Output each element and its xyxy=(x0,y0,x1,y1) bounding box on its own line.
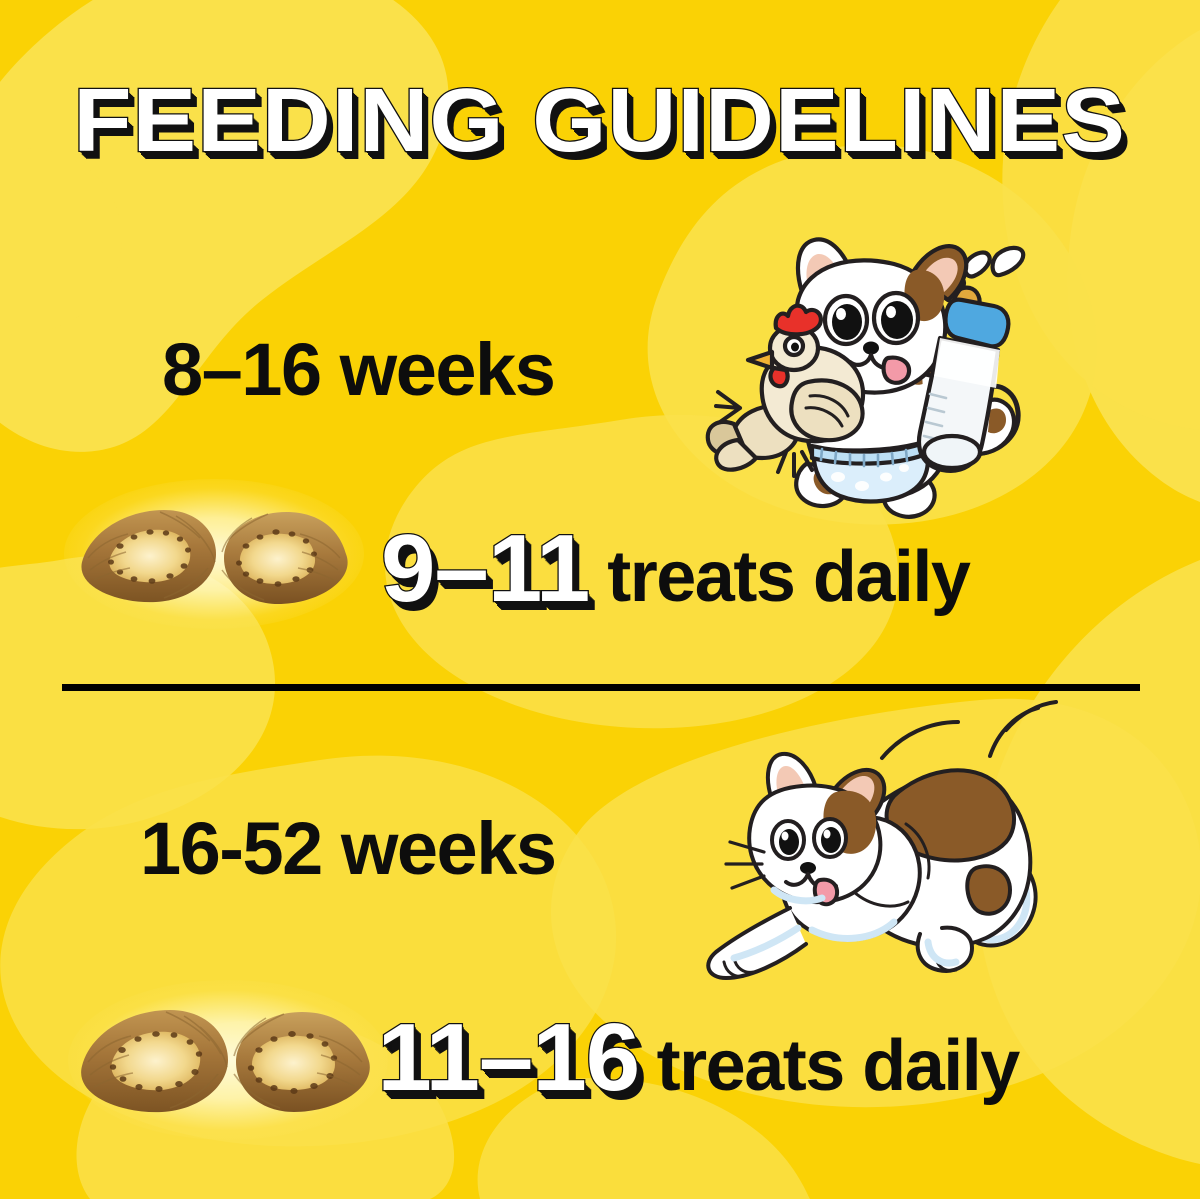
feeding-guidelines-poster: FEEDING GUIDELINES xyxy=(0,0,1200,1199)
playful-adult-cat-icon xyxy=(690,700,1065,985)
treat-unit-2: treats daily xyxy=(657,1030,1019,1102)
age-range-label-1: 8–16 weeks xyxy=(162,333,554,407)
kitten-with-chicken-and-milk-bottle-icon xyxy=(690,196,1040,526)
treat-count-line-1: 9–11 treats daily xyxy=(383,521,969,617)
age-range-label-2: 16-52 weeks xyxy=(140,812,556,886)
treat-count-2: 11–16 xyxy=(377,1010,639,1106)
cat-treat-pair-icon-2 xyxy=(68,990,388,1130)
treat-count-1: 9–11 xyxy=(381,521,589,617)
treat-unit-1: treats daily xyxy=(607,541,969,613)
cat-treat-pair-icon-1 xyxy=(64,484,364,624)
page-title-wrap: FEEDING GUIDELINES xyxy=(0,76,1200,166)
section-divider xyxy=(62,684,1140,691)
treat-count-line-2: 11–16 treats daily xyxy=(380,1010,1019,1106)
page-title: FEEDING GUIDELINES xyxy=(74,76,1127,166)
